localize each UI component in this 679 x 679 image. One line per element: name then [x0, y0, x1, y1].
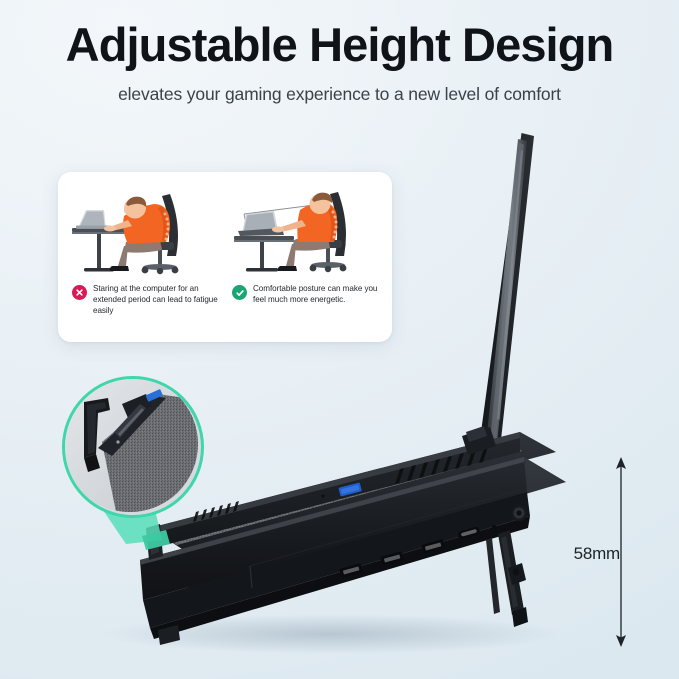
caption-good-posture: Comfortable posture can make you feel mu…: [232, 284, 384, 306]
product-marketing-image: Adjustable Height Design elevates your g…: [0, 0, 679, 679]
person-hunched-at-laptop-illustration: [66, 180, 226, 280]
laptop-screen-edge: [477, 133, 534, 458]
stand-front-lip-hook-closeup: [62, 376, 198, 512]
caption-text: Comfortable posture can make you feel mu…: [253, 284, 384, 306]
panel-bad-posture: Staring at the computer for an extended …: [66, 180, 226, 335]
power-button: [511, 505, 527, 521]
stand-rear-support-leg: [486, 530, 528, 627]
magnifier-lens: [62, 376, 204, 518]
posture-comparison-card: Staring at the computer for an extended …: [58, 172, 392, 342]
dimension-annotation: 58mm: [556, 452, 666, 652]
caption-bad-posture: Staring at the computer for an extended …: [72, 284, 224, 317]
usb-a-port: [421, 539, 445, 554]
panel-good-posture: Comfortable posture can make you feel mu…: [226, 180, 386, 335]
led-indicator: [492, 525, 496, 529]
person-upright-at-raised-laptop-illustration: [226, 180, 386, 280]
usb-a-port: [380, 551, 404, 566]
page-title: Adjustable Height Design: [0, 20, 679, 71]
header: Adjustable Height Design elevates your g…: [0, 0, 679, 105]
dimension-label: 58mm: [558, 544, 620, 564]
x-icon: [72, 285, 87, 300]
caption-text: Staring at the computer for an extended …: [93, 284, 224, 317]
check-icon: [232, 285, 247, 300]
magnifier-callout: [50, 368, 240, 558]
usb-c-port: [457, 526, 480, 540]
usb-a-port: [339, 563, 363, 578]
page-subtitle: elevates your gaming experience to a new…: [0, 84, 679, 105]
